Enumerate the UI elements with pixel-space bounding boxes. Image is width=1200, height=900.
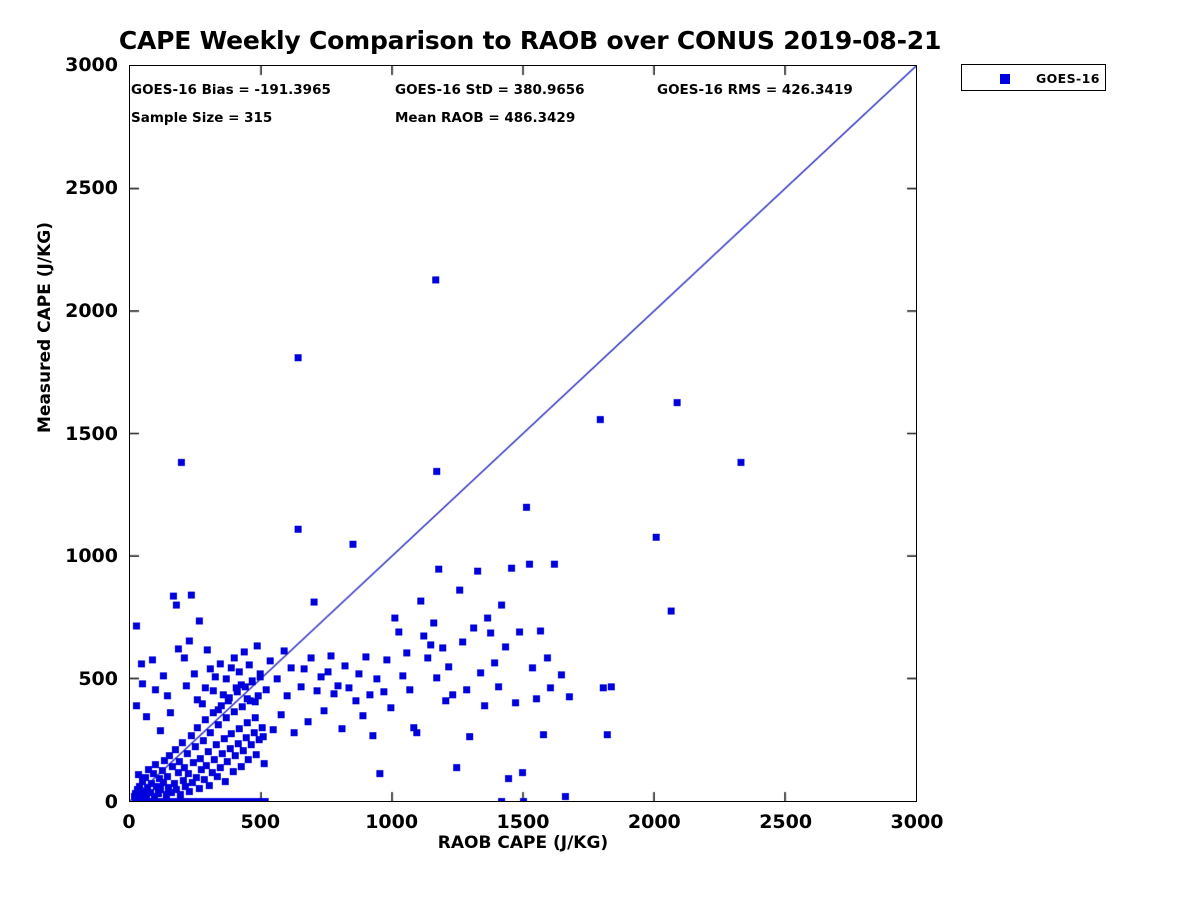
y-axis-title: Measured CAPE (J/KG) [35,222,55,433]
chart-page: CAPE Weekly Comparison to RAOB over CONU… [0,0,1200,900]
x-axis-title: RAOB CAPE (J/KG) [129,833,917,853]
stat-annotation: GOES-16 RMS = 426.3419 [657,82,853,98]
stat-annotation: Sample Size = 315 [131,110,272,126]
stat-annotation: GOES-16 Bias = -191.3965 [131,82,331,98]
y-tick-label: 1500 [0,423,118,445]
y-tick-label: 500 [0,668,118,690]
stat-annotation: Mean RAOB = 486.3429 [395,110,575,126]
x-tick-label: 500 [240,811,280,833]
plot-area [129,65,917,802]
legend: GOES-16 [961,64,1106,91]
y-tick-label: 3000 [0,54,118,76]
y-tick-label: 1000 [0,545,118,567]
x-tick-label: 1000 [365,811,418,833]
page-title: CAPE Weekly Comparison to RAOB over CONU… [0,26,1060,55]
x-tick-label: 3000 [891,811,944,833]
legend-marker-icon [1000,74,1010,84]
y-tick-label: 0 [0,791,118,813]
scatter-canvas [130,66,916,801]
y-tick-label: 2000 [0,300,118,322]
x-tick-label: 2000 [628,811,681,833]
x-tick-label: 0 [122,811,135,833]
x-tick-label: 1500 [497,811,550,833]
legend-label: GOES-16 [1036,71,1100,86]
stat-annotation: GOES-16 StD = 380.9656 [395,82,585,98]
y-tick-label: 2500 [0,177,118,199]
x-tick-label: 2500 [759,811,812,833]
